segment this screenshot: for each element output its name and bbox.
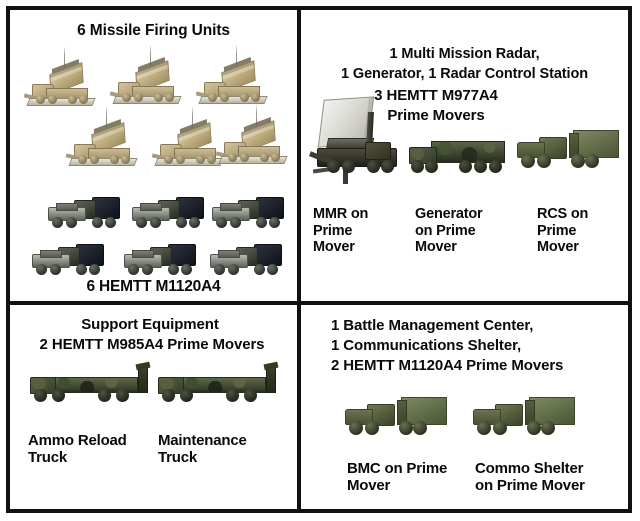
radar-group-title-line-1: 1 Multi Mission Radar, bbox=[301, 46, 628, 62]
hemtt-launcher-truck-icon bbox=[208, 195, 286, 229]
hemtt-launcher-truck-icon bbox=[120, 242, 198, 276]
maintenance-truck-label: Maintenance Truck bbox=[158, 432, 278, 466]
missile-launcher-icon bbox=[216, 120, 288, 172]
quadrant-support-equipment: Support Equipment 2 HEMTT M985A4 Prime M… bbox=[10, 305, 297, 509]
ammo-reload-truck-label: Ammo Reload Truck bbox=[28, 432, 148, 466]
rcs-label: RCS on Prime Mover bbox=[537, 206, 625, 256]
support-equipment-title-line-2: 2 HEMTT M985A4 Prime Movers bbox=[10, 337, 294, 354]
mmr-label: MMR on Prime Mover bbox=[313, 206, 405, 256]
maintenance-truck-icon bbox=[156, 367, 280, 407]
support-equipment-title-line-1: Support Equipment bbox=[10, 317, 290, 334]
generator-label: Generator on Prime Mover bbox=[415, 206, 511, 256]
missile-launcher-icon bbox=[110, 60, 182, 112]
quadrant-radar-group: 1 Multi Mission Radar, 1 Generator, 1 Ra… bbox=[301, 10, 628, 301]
bmc-label: BMC on Prime Mover bbox=[347, 460, 477, 494]
missile-firing-units-title: 6 Missile Firing Units bbox=[10, 22, 297, 39]
battle-management-title-line-3: 2 HEMTT M1120A4 Prime Movers bbox=[331, 358, 563, 375]
missile-launcher-icon bbox=[66, 122, 138, 174]
missile-launcher-icon bbox=[152, 122, 224, 174]
battle-management-title-line-2: 1 Communications Shelter, bbox=[331, 338, 521, 355]
radar-truck-icon bbox=[309, 98, 409, 190]
rcs-shelter-truck-icon bbox=[515, 128, 619, 174]
commo-shelter-label: Commo Shelter on Prime Mover bbox=[475, 460, 623, 494]
quadrant-missile-firing-units: 6 Missile Firing Units bbox=[10, 10, 297, 301]
quadrant-battle-management: 1 Battle Management Center, 1 Communicat… bbox=[301, 305, 628, 509]
bmc-shelter-truck-icon bbox=[343, 395, 447, 441]
battle-management-title-line-1: 1 Battle Management Center, bbox=[331, 318, 533, 335]
ammo-reload-truck-icon bbox=[28, 367, 152, 407]
hemtt-launcher-truck-icon bbox=[206, 242, 284, 276]
hemtt-launcher-truck-icon bbox=[44, 195, 122, 229]
radar-group-title-line-2: 1 Generator, 1 Radar Control Station bbox=[301, 66, 628, 82]
equipment-diagram: 6 Missile Firing Units bbox=[6, 6, 632, 513]
missile-launcher-icon bbox=[24, 62, 96, 114]
commo-shelter-truck-icon bbox=[471, 395, 575, 441]
hemtt-launcher-truck-icon bbox=[28, 242, 106, 276]
generator-truck-icon bbox=[405, 135, 509, 177]
missile-launcher-icon bbox=[196, 60, 268, 112]
hemtt-m1120a4-caption: 6 HEMTT M1120A4 bbox=[10, 278, 297, 296]
hemtt-launcher-truck-icon bbox=[128, 195, 206, 229]
